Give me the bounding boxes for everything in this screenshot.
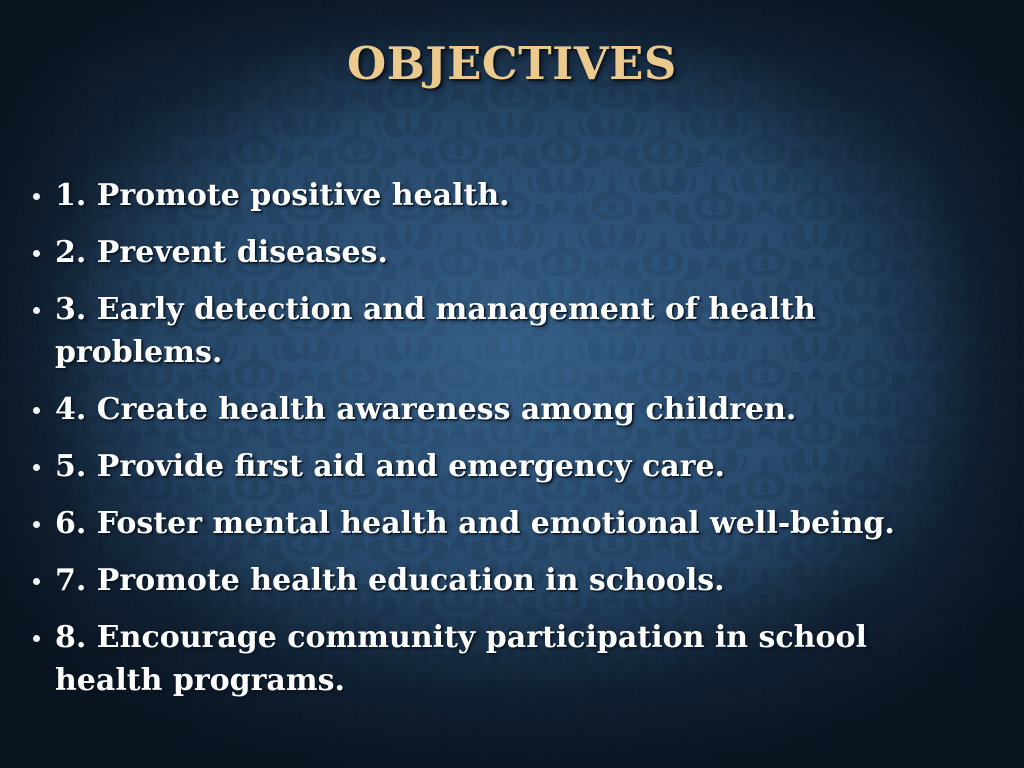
- list-item-label: 2. Prevent diseases.: [55, 231, 984, 274]
- bullet-point-icon: [33, 521, 40, 528]
- bullet-point-icon: [33, 578, 40, 585]
- bullet-point-icon: [33, 307, 40, 314]
- list-item: 4. Create health awareness among childre…: [24, 388, 984, 431]
- list-item-label: 3. Early detection and management of hea…: [55, 288, 984, 374]
- bullet-point-icon: [33, 407, 40, 414]
- list-item: 5. Provide first aid and emergency care.: [24, 445, 984, 488]
- list-item: 2. Prevent diseases.: [24, 231, 984, 274]
- bullet-point-icon: [33, 250, 40, 257]
- list-item: 3. Early detection and management of hea…: [24, 288, 984, 374]
- presentation-slide: OBJECTIVES 1. Promote positive health. 2…: [0, 0, 1024, 768]
- list-item-label: 1. Promote positive health.: [55, 174, 984, 217]
- list-item-label: 8. Encourage community participation in …: [55, 616, 984, 702]
- list-item-label: 7. Promote health education in schools.: [55, 559, 984, 602]
- list-item-label: 4. Create health awareness among childre…: [55, 388, 984, 431]
- list-item: 8. Encourage community participation in …: [24, 616, 984, 702]
- bullet-point-icon: [33, 193, 40, 200]
- slide-content: OBJECTIVES 1. Promote positive health. 2…: [0, 0, 1024, 768]
- list-item: 1. Promote positive health.: [24, 174, 984, 217]
- list-item: 7. Promote health education in schools.: [24, 559, 984, 602]
- list-item-label: 5. Provide first aid and emergency care.: [55, 445, 984, 488]
- bullet-point-icon: [33, 464, 40, 471]
- list-item-label: 6. Foster mental health and emotional we…: [55, 502, 984, 545]
- list-item: 6. Foster mental health and emotional we…: [24, 502, 984, 545]
- bullet-point-icon: [33, 635, 40, 642]
- objectives-bullet-list: 1. Promote positive health. 2. Prevent d…: [24, 174, 984, 702]
- slide-title: OBJECTIVES: [0, 38, 1024, 90]
